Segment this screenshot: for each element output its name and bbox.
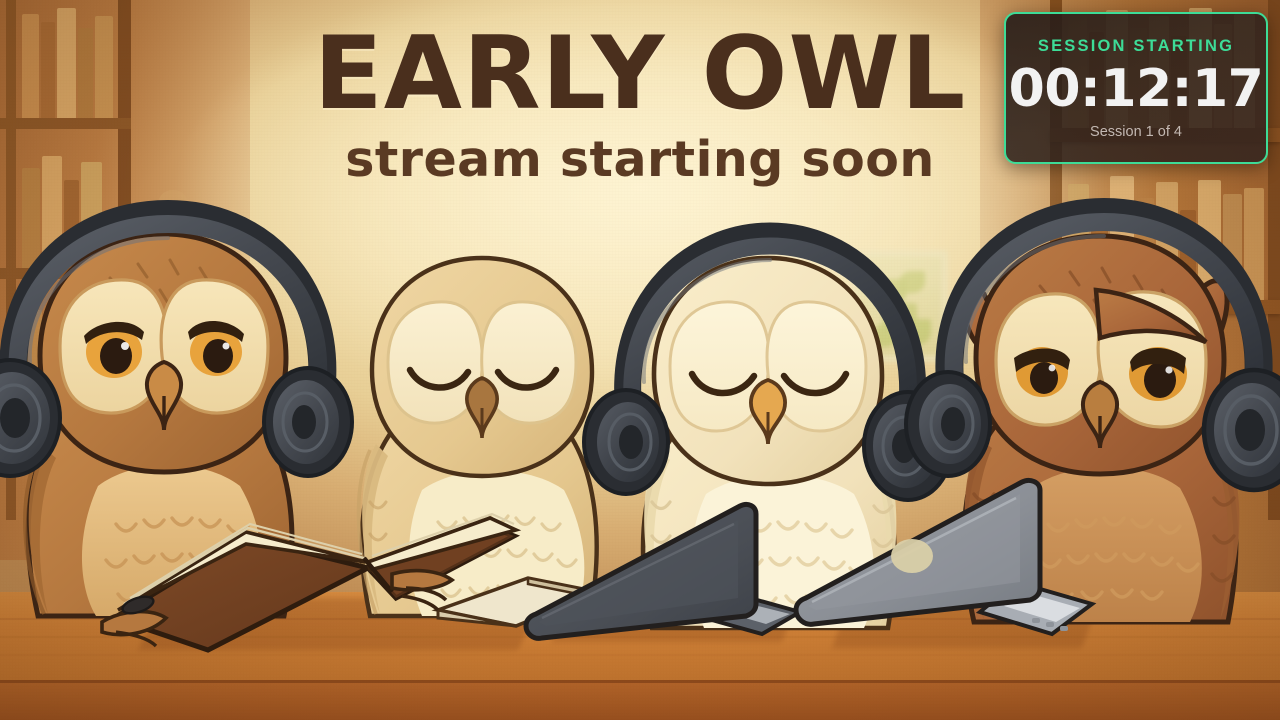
dark-laptop [512, 492, 802, 652]
session-timer-panel: SESSION STARTING 00:12:17 Session 1 of 4 [1004, 12, 1268, 164]
countdown-clock: 00:12:17 [1009, 62, 1264, 117]
open-book [96, 492, 526, 662]
silver-laptop [784, 470, 1094, 650]
stream-overlay-scene: EARLY OWL stream starting soon [0, 0, 1280, 720]
session-counter: Session 1 of 4 [1090, 124, 1182, 140]
desk-front-edge [0, 680, 1280, 720]
status-badge: SESSION STARTING [1038, 37, 1234, 56]
laptop-logo [891, 539, 933, 573]
